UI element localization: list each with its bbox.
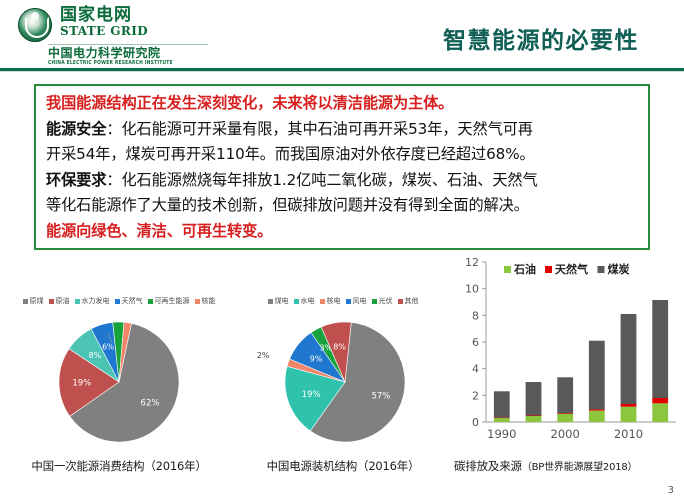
legend-swatch-icon (195, 299, 200, 304)
x-axis-tick-label: 2010 (614, 427, 643, 441)
pie-chart-power-capacity: 57%19%2%9%3%8% (245, 310, 441, 450)
slide-header: 国家电网 STATE GRID 中国电力科学研究院 CHINA ELECTRIC… (0, 0, 684, 70)
y-axis-tick-label: 6 (472, 336, 479, 349)
y-axis-tick-label: 0 (472, 416, 479, 429)
legend-label: 水力发电 (82, 297, 110, 305)
bar-segment (621, 404, 637, 407)
bar-segment (494, 391, 510, 417)
legend-label: 原煤 (30, 297, 44, 305)
bar-segment (526, 416, 542, 422)
bar-c-plot-area: 024681012199020002010石油天然气煤炭 (452, 254, 684, 452)
legend-swatch-icon (148, 299, 153, 304)
legend-label: 原油 (56, 297, 70, 305)
chart-power-capacity-mix: 煤电水电核电风电光伏其他 57%19%2%9%3%8% 中国电源装机结构（201… (232, 254, 454, 474)
legend-item: 天然气 (115, 297, 143, 305)
y-axis-tick-label: 8 (472, 309, 479, 322)
bar-segment (652, 398, 668, 403)
text-line-energy-security: 能源安全：化石能源可开采量有限，其中石油可再开采53年，天然气可再 (46, 117, 640, 143)
legend-swatch-icon (398, 299, 403, 304)
slide-title-container: 智慧能源的必要性 (398, 16, 684, 60)
caption-c-main: 碳排放及来源 (454, 459, 522, 473)
institute-name-cn: 中国电力科学研究院 (48, 47, 208, 60)
text-line-conclusion: 能源向绿色、清洁、可再生转变。 (46, 219, 640, 245)
state-grid-logo: 国家电网 STATE GRID (18, 6, 148, 42)
bar-segment (557, 413, 573, 414)
pie-slice-label: 8% (89, 351, 102, 360)
y-axis-tick-label: 4 (472, 363, 479, 376)
bar-segment (557, 377, 573, 413)
legend-item: 原煤 (23, 297, 44, 305)
chart-primary-energy-consumption: 原煤原油水力发电天然气可再生能源核能 62%19%8%6%3%2% 中国一次能源… (6, 254, 232, 474)
legend-primary-energy: 原煤原油水力发电天然气可再生能源核能 (6, 294, 232, 308)
pie-slice-label: 8% (333, 342, 346, 351)
legend-item: 风电 (346, 297, 367, 305)
bar-segment (652, 403, 668, 422)
legend-item: 核能 (195, 297, 216, 305)
label-env-requirement: 环保要求 (46, 171, 106, 189)
legend-label: 核能 (202, 297, 216, 305)
pie-slice-label: 62% (141, 399, 160, 409)
legend-item: 光伏 (372, 297, 393, 305)
slide-root: 国家电网 STATE GRID 中国电力科学研究院 CHINA ELECTRIC… (0, 0, 684, 501)
page-number: 3 (668, 485, 674, 496)
legend-label: 煤电 (275, 297, 289, 305)
org-name-en: STATE GRID (60, 24, 148, 38)
legend-swatch-icon (320, 299, 325, 304)
y-axis-tick-label: 2 (472, 389, 479, 402)
legend-item: 核电 (320, 297, 341, 305)
text-line-env-requirement: 环保要求：化石能源燃烧每年排放1.2亿吨二氧化碳，煤炭、石油、天然气 (46, 168, 640, 194)
pie-slice-label: 57% (371, 392, 390, 402)
legend-item: 煤电 (268, 297, 289, 305)
org-name-cn: 国家电网 (60, 6, 148, 24)
legend-label: 天然气 (122, 297, 143, 305)
bar-segment (652, 300, 668, 398)
bar-segment (557, 414, 573, 422)
institute-name-en: CHINA ELECTRIC POWER RESEARCH INSTITUTE (48, 60, 208, 68)
legend-item: 水电 (294, 297, 315, 305)
caption-c-source: （BP世界能源展望2018） (522, 462, 638, 473)
legend-item: 原油 (49, 297, 70, 305)
pie-slice-label: 2% (257, 351, 270, 360)
legend-item: 可再生能源 (148, 297, 190, 305)
legend-label: 天然气 (555, 262, 588, 276)
legend-label: 水电 (301, 297, 315, 305)
pie-slice-label: 19% (72, 378, 91, 388)
text-line-energy-security-2: 开采54年，煤炭可再开采110年。而我国原油对外依存度已经超过68%。 (46, 142, 640, 168)
legend-swatch-icon (504, 266, 511, 273)
legend-swatch-icon (75, 299, 80, 304)
state-grid-emblem-icon (18, 8, 52, 42)
x-axis-tick-label: 2000 (551, 427, 580, 441)
x-axis-tick-label: 1990 (487, 427, 516, 441)
caption-chart-c: 碳排放及来源（BP世界能源展望2018） (452, 458, 684, 474)
legend-swatch-icon (294, 299, 299, 304)
caption-a-year: （2016年） (144, 459, 206, 473)
legend-label: 石油 (513, 262, 536, 276)
caption-b-year: （2016年） (357, 459, 419, 473)
legend-label: 其他 (405, 297, 419, 305)
header-divider-soft (0, 71, 684, 72)
legend-power-capacity: 煤电水电核电风电光伏其他 (232, 294, 454, 308)
pie-chart-primary-energy: 62%19%8%6%3%2% (19, 310, 219, 450)
text-line-env-requirement-2: 等化石能源作了大量的技术创新，但碳排放问题并没有得到全面的解决。 (46, 193, 640, 219)
legend-label: 煤炭 (608, 262, 630, 276)
bar-segment (494, 418, 510, 419)
caption-b-main: 中国电源装机结构 (267, 459, 357, 473)
legend-swatch-icon (115, 299, 120, 304)
legend-swatch-icon (346, 299, 351, 304)
bar-chart-carbon-emissions: 024681012199020002010石油天然气煤炭 (452, 254, 684, 452)
bar-segment (526, 416, 542, 417)
legend-swatch-icon (23, 299, 28, 304)
caption-chart-a: 中国一次能源消费结构（2016年） (6, 458, 232, 474)
institute-block: 中国电力科学研究院 CHINA ELECTRIC POWER RESEARCH … (48, 44, 208, 66)
legend-swatch-icon (545, 266, 552, 273)
chart-carbon-emissions: 024681012199020002010石油天然气煤炭 碳排放及来源（BP世界… (452, 254, 684, 474)
legend-label: 风电 (353, 297, 367, 305)
label-energy-security: 能源安全 (46, 120, 106, 138)
text-env-requirement-rest: ：化石能源燃烧每年排放1.2亿吨二氧化碳，煤炭、石油、天然气 (106, 171, 537, 189)
y-axis-tick-label: 10 (465, 283, 479, 296)
y-axis-tick-label: 12 (465, 256, 479, 269)
page-title: 智慧能源的必要性 (443, 21, 639, 55)
bar-segment (526, 382, 542, 416)
legend-item: 水力发电 (75, 297, 110, 305)
text-energy-security-rest: ：化石能源可开采量有限，其中石油可再开采53年，天然气可再 (106, 120, 533, 138)
legend-swatch-icon (598, 266, 605, 273)
pie-slice-label: 19% (302, 390, 321, 400)
logo-text-group: 国家电网 STATE GRID (60, 6, 148, 38)
caption-a-main: 中国一次能源消费结构 (31, 459, 144, 473)
legend-label: 光伏 (379, 297, 393, 305)
text-line-headline: 我国能源结构正在发生深刻变化，未来将以清洁能源为主体。 (46, 91, 640, 117)
legend-swatch-icon (372, 299, 377, 304)
bar-segment (621, 314, 637, 404)
legend-label: 核电 (327, 297, 341, 305)
legend-label: 可再生能源 (155, 297, 190, 305)
legend-item: 其他 (398, 297, 419, 305)
bar-segment (494, 418, 510, 422)
pie-slice-label: 9% (310, 355, 323, 364)
legend-swatch-icon (268, 299, 273, 304)
bar-segment (621, 407, 637, 422)
pie-slice-label: 2% (127, 310, 140, 312)
pie-b-plot-area: 57%19%2%9%3%8% (232, 310, 454, 452)
content-textbox: 我国能源结构正在发生深刻变化，未来将以清洁能源为主体。 能源安全：化石能源可开采… (34, 84, 650, 250)
bar-segment (589, 341, 605, 410)
bar-segment (589, 409, 605, 410)
charts-row: 原煤原油水力发电天然气可再生能源核能 62%19%8%6%3%2% 中国一次能源… (0, 254, 684, 484)
pie-slice-label: 6% (102, 342, 114, 351)
caption-chart-b: 中国电源装机结构（2016年） (232, 458, 454, 474)
pie-a-plot-area: 62%19%8%6%3%2% (6, 310, 232, 452)
bar-segment (589, 411, 605, 422)
legend-swatch-icon (49, 299, 54, 304)
